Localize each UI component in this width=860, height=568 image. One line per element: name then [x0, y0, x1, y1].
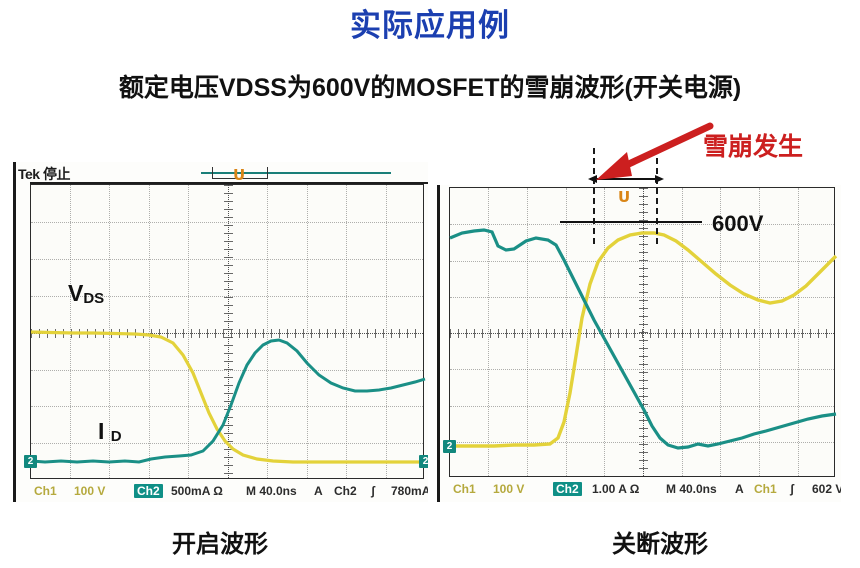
status-ch1-label: Ch1: [34, 484, 57, 498]
avalanche-arrow-icon: [590, 120, 715, 180]
channel-marker-2-left: 2: [24, 455, 37, 468]
status-trigger-source: Ch1: [754, 482, 777, 496]
status-trigger-a: A: [735, 482, 744, 496]
status-ch2-scale: 500mA Ω: [171, 484, 223, 498]
trace-vds-right: [450, 233, 836, 446]
page-subtitle: 额定电压VDSS为600V的MOSFET的雪崩波形(开关电源): [0, 72, 860, 104]
label-id: I D: [98, 418, 122, 445]
status-timebase: M 40.0ns: [246, 484, 297, 498]
status-trigger-source: Ch2: [334, 484, 357, 498]
status-trigger-a: A: [314, 484, 323, 498]
clamp-voltage-line: [560, 221, 702, 223]
caption-turn-off: 关断波形: [530, 524, 790, 559]
status-ch1-scale: 100 V: [74, 484, 105, 498]
caption-turn-on: 开启波形: [90, 524, 350, 559]
graticule-right: 2 U: [449, 187, 835, 477]
oscilloscope-right: 2 U Ch1 100 V Ch2 1.00 A Ω M 40.0ns A Ch…: [437, 185, 841, 502]
status-timebase: M 40.0ns: [666, 482, 717, 496]
status-trigger-slope-icon: ʃ: [371, 484, 375, 498]
status-ch1-label: Ch1: [453, 482, 476, 496]
channel-marker-2-right-edge: 2: [419, 455, 428, 468]
trigger-marker-icon-left: U: [233, 168, 245, 182]
trigger-marker-icon-right: U: [618, 190, 630, 204]
scope-status-bar-right: Ch1 100 V Ch2 1.00 A Ω M 40.0ns A Ch1 ʃ …: [440, 482, 841, 499]
graticule-left: 2 2: [30, 184, 424, 479]
trace-vds-left: [31, 332, 425, 462]
status-ch2-label: Ch2: [553, 482, 582, 496]
scope-header-left: Tek 停止: [18, 164, 70, 184]
trace-id-right: [450, 230, 836, 448]
label-vds: VDS: [68, 280, 104, 307]
oscilloscope-left: Tek 停止 U 2 2 Ch1: [13, 162, 428, 502]
scope-status-bar-left: Ch1 100 V Ch2 500mA Ω M 40.0ns A Ch2 ʃ 7…: [16, 484, 428, 501]
page-title: 实际应用例: [0, 6, 860, 46]
waveform-traces-left: [31, 185, 425, 480]
status-trigger-level: 780mA: [391, 484, 428, 498]
status-trigger-slope-icon: ʃ: [790, 482, 794, 496]
status-ch2-scale: 1.00 A Ω: [592, 482, 639, 496]
clamp-voltage-label: 600V: [712, 211, 763, 237]
status-trigger-level: 602 V: [812, 482, 841, 496]
status-ch2-label: Ch2: [134, 484, 163, 498]
status-ch1-scale: 100 V: [493, 482, 524, 496]
avalanche-annotation-label: 雪崩发生: [703, 127, 803, 163]
waveform-traces-right: [450, 188, 836, 478]
channel-marker-2-right: 2: [443, 440, 456, 453]
